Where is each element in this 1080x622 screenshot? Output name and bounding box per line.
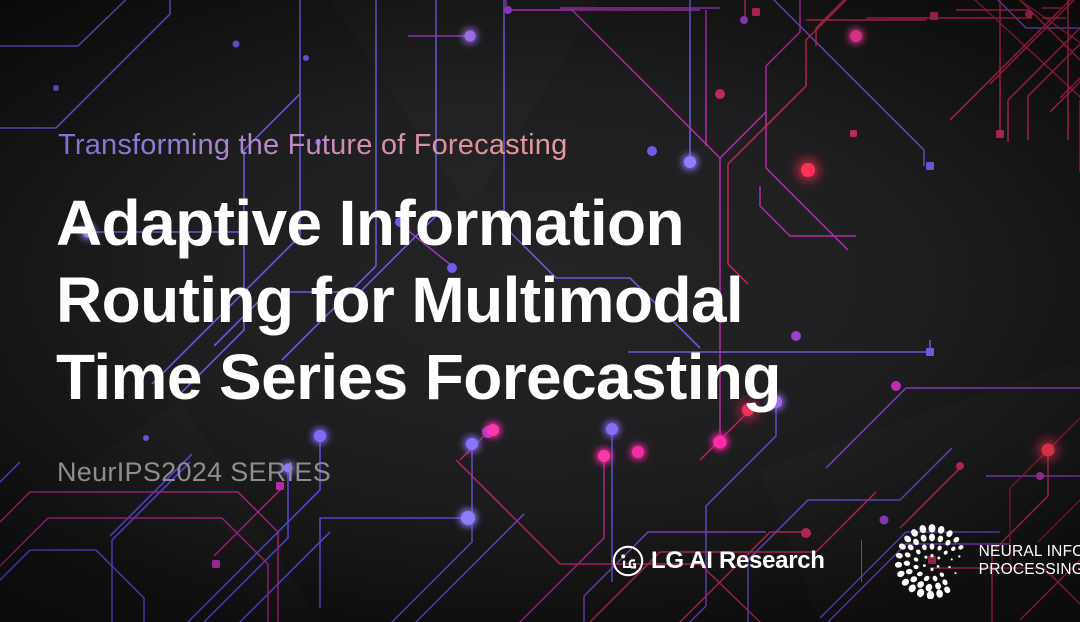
lg-ai-research-logo: LG AI Research bbox=[612, 544, 825, 578]
slide-kicker: Transforming the Future of Forecasting bbox=[58, 128, 567, 163]
neurips-line-1: NEURAL INFORMATION bbox=[979, 543, 1080, 561]
title-line-2: Routing for Multimodal bbox=[56, 262, 916, 339]
neurips-wordmark: NEURAL INFORMATION PROCESSING SYSTEMS bbox=[979, 543, 1080, 579]
title-line-3: Time Series Forecasting bbox=[56, 339, 916, 416]
lg-wordmark: LG AI Research bbox=[651, 549, 825, 573]
page-title: Adaptive Information Routing for Multimo… bbox=[56, 185, 916, 416]
title-line-1: Adaptive Information bbox=[56, 185, 916, 262]
logo-divider bbox=[861, 540, 862, 582]
neurips-logo: NEURAL INFORMATION PROCESSING SYSTEMS bbox=[894, 523, 1080, 599]
lg-circle-face-mark bbox=[612, 545, 644, 577]
presentation-slide: Transforming the Future of Forecasting A… bbox=[0, 0, 1080, 622]
logo-bar: LG AI Research bbox=[612, 524, 1064, 598]
neurips-dotted-c-mark bbox=[894, 523, 970, 599]
series-label: NeurIPS2024 SERIES bbox=[57, 457, 331, 488]
neurips-line-2: PROCESSING SYSTEMS bbox=[979, 561, 1080, 579]
